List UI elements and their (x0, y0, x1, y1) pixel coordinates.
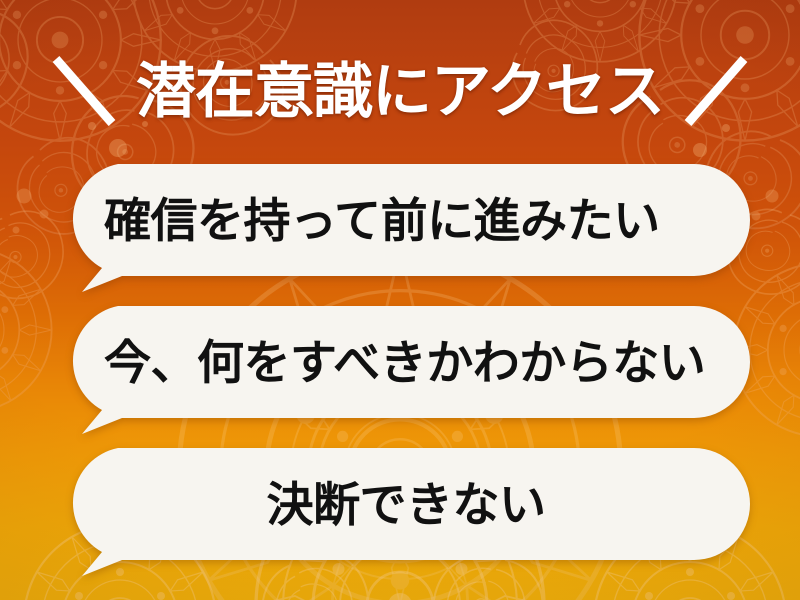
speech-bubble: 今、何をすべきかわからない (62, 306, 750, 418)
speech-bubble-text: 決断できない (62, 448, 750, 560)
speech-bubble-text: 確信を持って前に進みたい (62, 164, 750, 276)
forwardslash-stroke-icon (674, 53, 750, 131)
speech-bubble: 確信を持って前に進みたい (62, 164, 750, 276)
speech-bubble: 決断できない (62, 448, 750, 560)
speech-bubble-text: 今、何をすべきかわからない (62, 306, 750, 418)
page-title: 潜在意識にアクセス (136, 62, 664, 122)
speech-bubble-list: 確信を持って前に進みたい 今、何をすべきかわからない 決断できない (62, 164, 750, 564)
backslash-stroke-icon (50, 53, 126, 131)
headline: 潜在意識にアクセス (0, 46, 800, 138)
slide-canvas: 潜在意識にアクセス 確信を持って前に進みたい 今、何をすべきかわからない (0, 0, 800, 600)
